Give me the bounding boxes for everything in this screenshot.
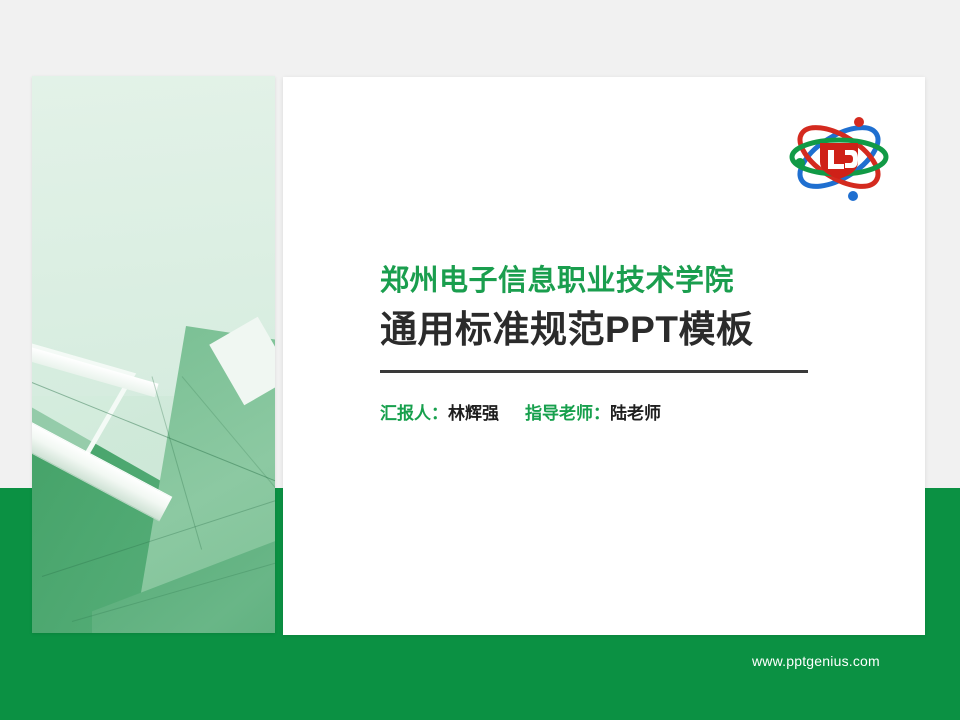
content-card: 郑州电子信息职业技术学院 通用标准规范PPT模板 汇报人：林辉强指导老师：陆老师 — [283, 77, 925, 635]
cover-photo-image — [32, 76, 275, 633]
title-divider — [380, 370, 808, 373]
presenter-label: 汇报人： — [380, 404, 448, 423]
website-url[interactable]: www.pptgenius.com — [752, 653, 880, 669]
college-logo — [787, 105, 891, 209]
title-block: 郑州电子信息职业技术学院 通用标准规范PPT模板 汇报人：林辉强指导老师：陆老师 — [380, 263, 810, 424]
organization-name: 郑州电子信息职业技术学院 — [380, 263, 810, 299]
presentation-slide: 郑州电子信息职业技术学院 通用标准规范PPT模板 汇报人：林辉强指导老师：陆老师… — [0, 0, 960, 720]
byline: 汇报人：林辉强指导老师：陆老师 — [380, 399, 810, 424]
presenter-name: 林辉强 — [448, 404, 499, 423]
cover-photo — [32, 76, 275, 633]
advisor-name: 陆老师 — [610, 404, 661, 423]
atom-emblem-icon — [787, 105, 891, 209]
advisor-label: 指导老师： — [525, 404, 610, 423]
page-title: 通用标准规范PPT模板 — [380, 307, 810, 352]
